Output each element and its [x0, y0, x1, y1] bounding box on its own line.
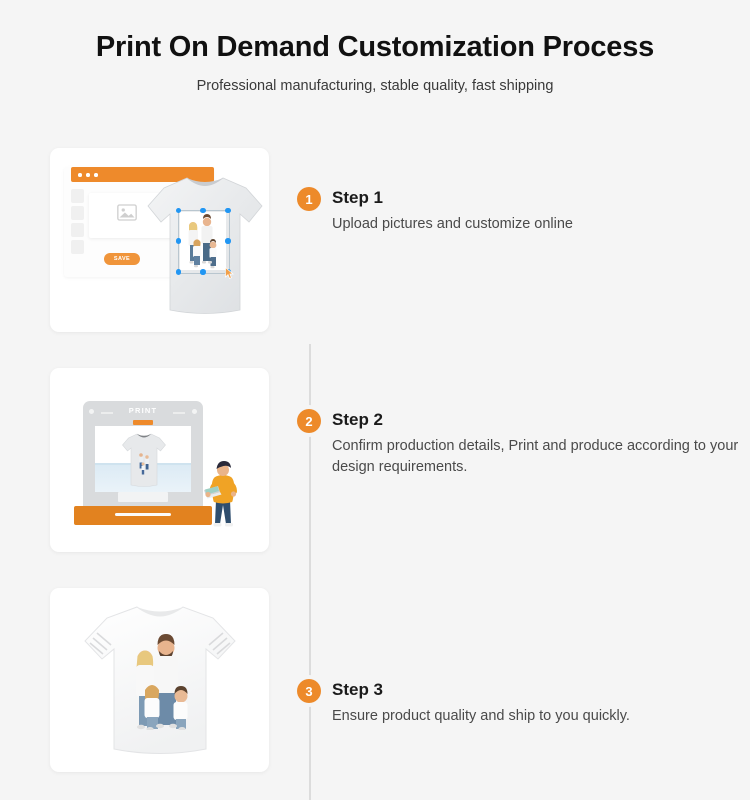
machine-dash [101, 412, 113, 414]
image-icon [117, 204, 137, 221]
sidebar-block [71, 206, 84, 220]
save-button[interactable]: SAVE [104, 253, 140, 265]
machine-platform [118, 492, 168, 502]
step-row: SAVE [0, 148, 750, 350]
sidebar-block [71, 223, 84, 237]
window-dot-icon [86, 173, 90, 177]
page-title: Print On Demand Customization Process [0, 30, 750, 64]
page-subtitle: Professional manufacturing, stable quali… [0, 77, 750, 95]
machine-output-slot [115, 513, 171, 516]
window-dot-icon [78, 173, 82, 177]
step-title: Step 3 [332, 680, 383, 700]
step-number-badge: 2 [297, 409, 321, 433]
worker-with-laptop-illustration [202, 460, 244, 530]
selection-handle[interactable] [200, 269, 206, 275]
step-number-badge: 1 [297, 187, 321, 211]
step-description: Upload pictures and customize online [332, 214, 750, 235]
steps-section: SAVE [0, 148, 750, 790]
machine-dash [173, 412, 185, 414]
pointer-cursor-icon [225, 267, 234, 279]
finished-product-illustration [50, 588, 269, 772]
selection-handle[interactable] [176, 208, 182, 214]
machine-knob-icon [89, 409, 94, 414]
online-editor-illustration: SAVE [50, 148, 269, 332]
step-row: PRINT [0, 368, 750, 570]
step-title: Step 1 [332, 188, 383, 208]
printing-machine-illustration: PRINT [50, 368, 269, 552]
family-photo-graphic [123, 628, 199, 730]
selection-handle[interactable] [225, 238, 231, 244]
machine-window [95, 426, 191, 492]
poster-root: Print On Demand Customization Process Pr… [0, 0, 750, 750]
step-2-illustration-card: PRINT [50, 368, 269, 552]
selection-handle[interactable] [200, 208, 206, 214]
printing-machine: PRINT [83, 401, 203, 509]
selection-handle[interactable] [176, 238, 182, 244]
tshirt-graphic [121, 431, 167, 489]
sidebar-block [71, 240, 84, 254]
step-row: 3 Step 3 Ensure product quality and ship… [0, 588, 750, 790]
window-dot-icon [94, 173, 98, 177]
selection-handle[interactable] [176, 269, 182, 275]
machine-label: PRINT [83, 406, 203, 415]
sidebar-block [71, 189, 84, 203]
selection-handle[interactable] [225, 208, 231, 214]
step-number-badge: 3 [297, 679, 321, 703]
step-1-illustration-card: SAVE [50, 148, 269, 332]
machine-indicator [133, 420, 153, 425]
selection-box [178, 210, 230, 274]
step-description: Ensure product quality and ship to you q… [332, 706, 750, 727]
header: Print On Demand Customization Process Pr… [0, 0, 750, 95]
step-description: Confirm production details, Print and pr… [332, 436, 750, 478]
machine-knob-icon [192, 409, 197, 414]
step-title: Step 2 [332, 410, 383, 430]
step-3-illustration-card [50, 588, 269, 772]
machine-base [74, 506, 212, 525]
